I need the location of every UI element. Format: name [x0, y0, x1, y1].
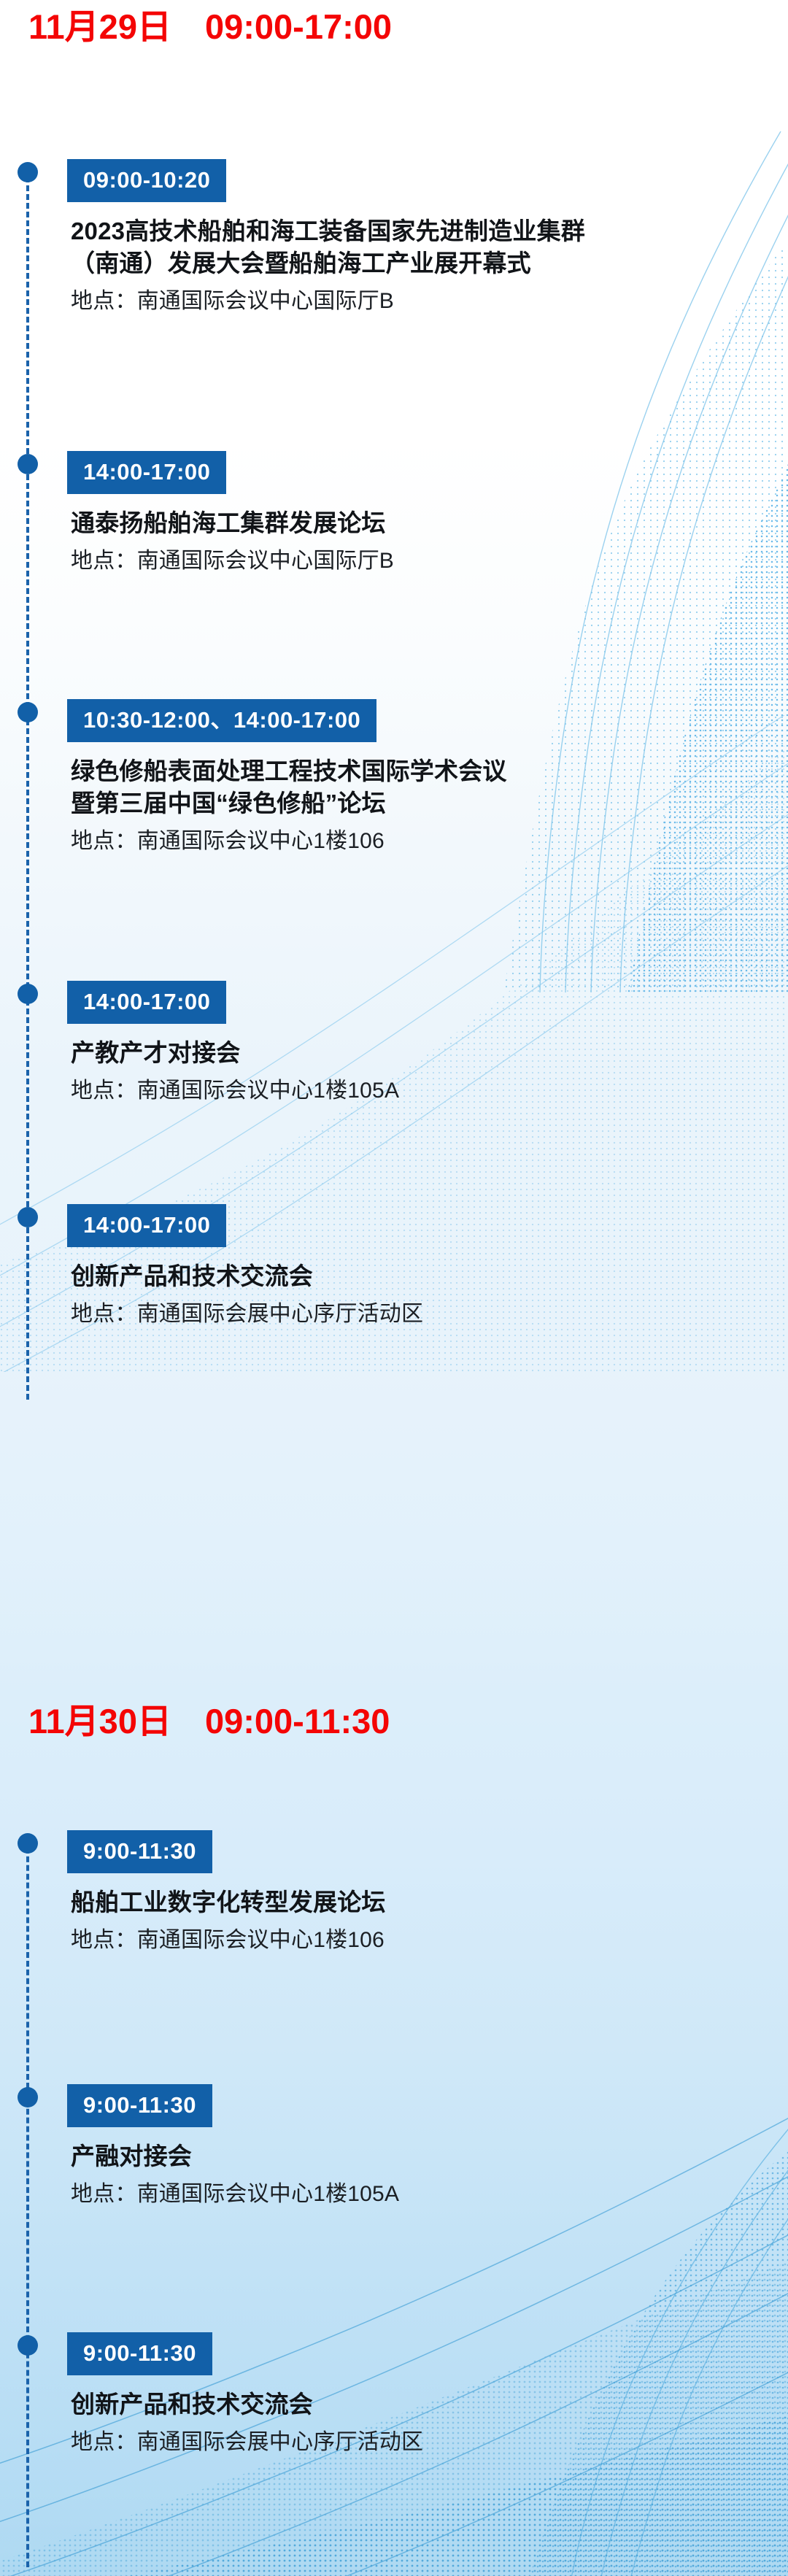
- event-title: 绿色修船表面处理工程技术国际学术会议 暨第三届中国“绿色修船”论坛: [71, 755, 782, 820]
- timeline-dot-icon: [18, 1207, 38, 1227]
- timeline-dot-icon: [18, 2335, 38, 2356]
- event-location: 地点：南通国际会议中心1楼106: [71, 1926, 782, 1954]
- event-time-badge: 14:00-17:00: [67, 981, 226, 1024]
- event-time-badge: 9:00-11:30: [67, 1830, 212, 1873]
- event-location: 地点：南通国际会议中心1楼106: [71, 827, 782, 855]
- event-title: 船舶工业数字化转型发展论坛: [71, 1886, 782, 1918]
- schedule-poster: 11月29日 09:00-17:00 09:00-10:20 2023高技术船舶…: [0, 0, 788, 2576]
- event-title: 创新产品和技术交流会: [71, 1260, 782, 1292]
- event-location: 地点：南通国际会议中心国际厅B: [71, 547, 782, 575]
- timeline-dashed-line: [26, 1839, 29, 2567]
- event-time-badge: 14:00-17:00: [67, 1204, 226, 1247]
- event-location: 地点：南通国际会议中心1楼105A: [71, 2180, 782, 2208]
- event-time-badge: 09:00-10:20: [67, 159, 226, 202]
- day-2-date: 11月30日: [28, 1704, 171, 1738]
- timeline-day-2: 9:00-11:30 船舶工业数字化转型发展论坛 地点：南通国际会议中心1楼10…: [0, 1830, 788, 2567]
- day-2-time-range: 09:00-11:30: [205, 1704, 390, 1738]
- day-1-time-range: 09:00-17:00: [205, 9, 392, 44]
- event-time-badge: 14:00-17:00: [67, 451, 226, 494]
- event-time-badge: 9:00-11:30: [67, 2084, 212, 2127]
- event-title: 产教产才对接会: [71, 1037, 782, 1069]
- event-time-badge: 10:30-12:00、14:00-17:00: [67, 699, 376, 742]
- event-title: 2023高技术船舶和海工装备国家先进制造业集群 （南通）发展大会暨船舶海工产业展…: [71, 215, 782, 279]
- timeline-dot-icon: [18, 162, 38, 182]
- event-location: 地点：南通国际会议中心国际厅B: [71, 287, 782, 315]
- day-1-date: 11月29日: [28, 9, 171, 44]
- timeline-dot-icon: [18, 2087, 38, 2108]
- timeline-dot-icon: [18, 454, 38, 474]
- event-title: 产融对接会: [71, 2140, 782, 2172]
- event-location: 地点：南通国际会议中心1楼105A: [71, 1076, 782, 1105]
- event-time-badge: 9:00-11:30: [67, 2332, 212, 2375]
- day-header-1: 11月29日 09:00-17:00: [28, 9, 392, 44]
- timeline-dot-icon: [18, 984, 38, 1004]
- timeline-dot-icon: [18, 702, 38, 722]
- event-title: 创新产品和技术交流会: [71, 2388, 782, 2421]
- timeline-dot-icon: [18, 1833, 38, 1854]
- timeline-day-1: 09:00-10:20 2023高技术船舶和海工装备国家先进制造业集群 （南通）…: [0, 159, 788, 1400]
- day-header-2: 11月30日 09:00-11:30: [28, 1704, 390, 1738]
- event-title: 通泰扬船舶海工集群发展论坛: [71, 507, 782, 539]
- event-location: 地点：南通国际会展中心序厅活动区: [71, 1300, 782, 1328]
- event-location: 地点：南通国际会展中心序厅活动区: [71, 2428, 782, 2456]
